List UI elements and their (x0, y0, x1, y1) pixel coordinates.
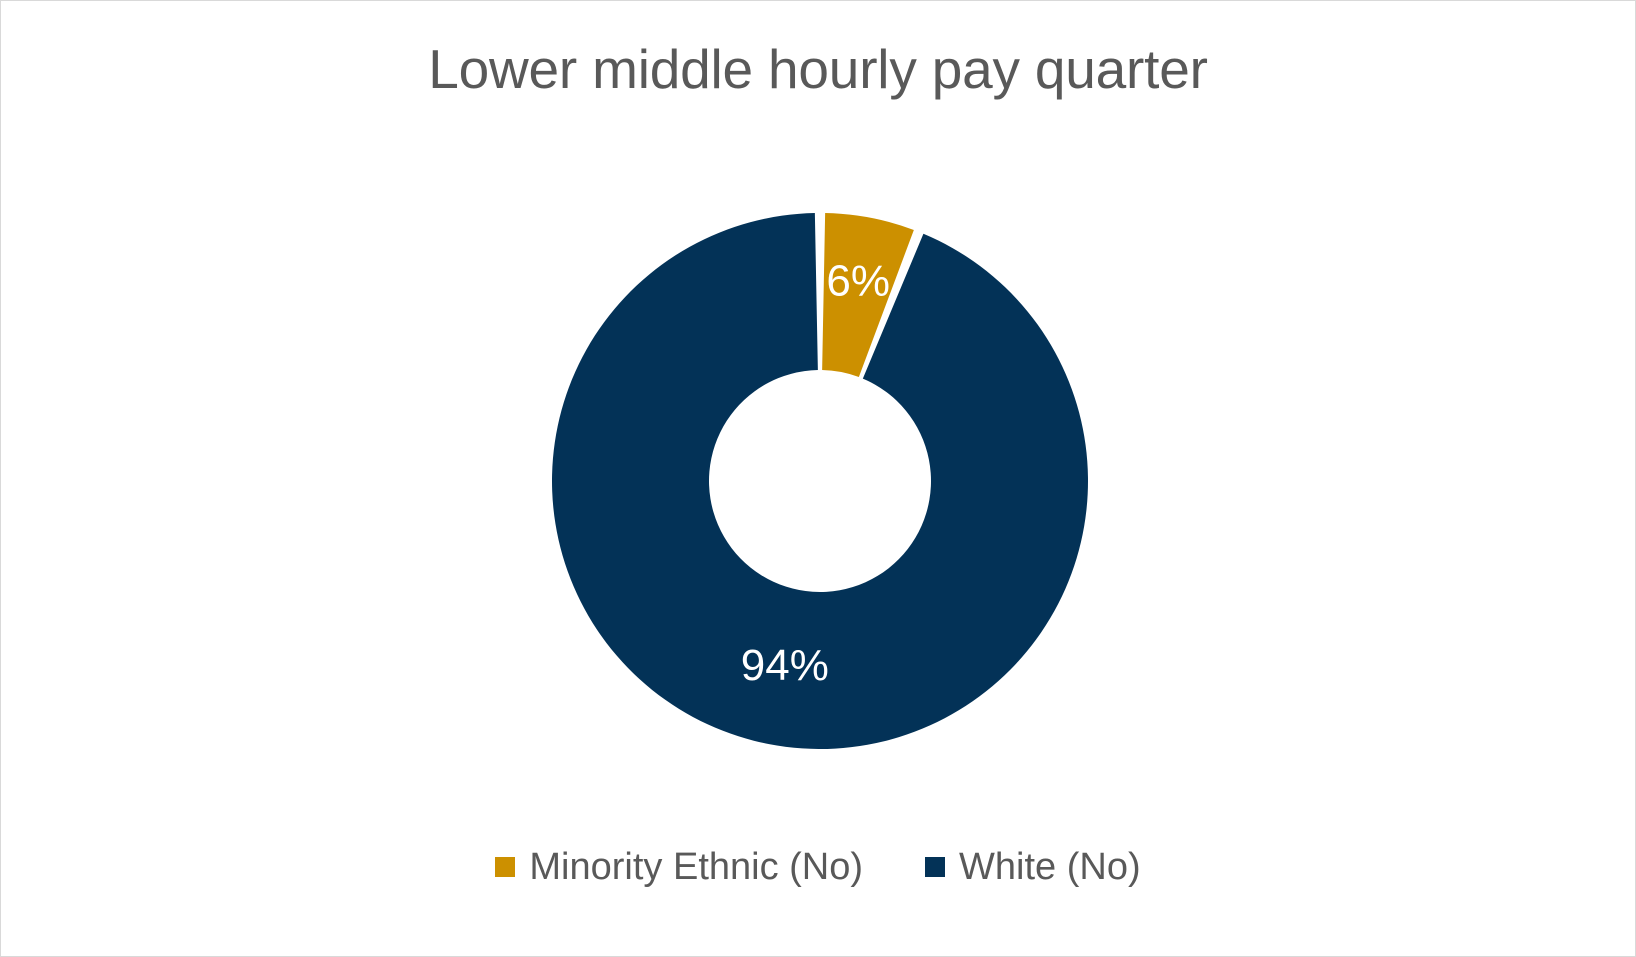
chart-legend: Minority Ethnic (No) White (No) (1, 848, 1635, 886)
donut-data-label: 6% (826, 256, 890, 305)
legend-label-white: White (No) (959, 848, 1141, 886)
donut-chart-svg: 6%94% (1, 1, 1636, 957)
chart-container: Lower middle hourly pay quarter 6%94% Mi… (0, 0, 1636, 957)
donut-slice-group (552, 213, 1088, 749)
legend-swatch-white (925, 857, 945, 877)
donut-slice[interactable] (822, 213, 914, 377)
legend-label-minority-ethnic: Minority Ethnic (No) (529, 848, 863, 886)
donut-data-label: 94% (741, 641, 829, 690)
donut-slice[interactable] (552, 213, 1088, 749)
legend-item-white[interactable]: White (No) (925, 848, 1141, 886)
legend-item-minority-ethnic[interactable]: Minority Ethnic (No) (495, 848, 863, 886)
chart-title: Lower middle hourly pay quarter (1, 39, 1635, 100)
donut-chart-area: 6%94% (1, 1, 1635, 956)
legend-swatch-minority-ethnic (495, 857, 515, 877)
donut-label-group: 6%94% (741, 256, 890, 689)
